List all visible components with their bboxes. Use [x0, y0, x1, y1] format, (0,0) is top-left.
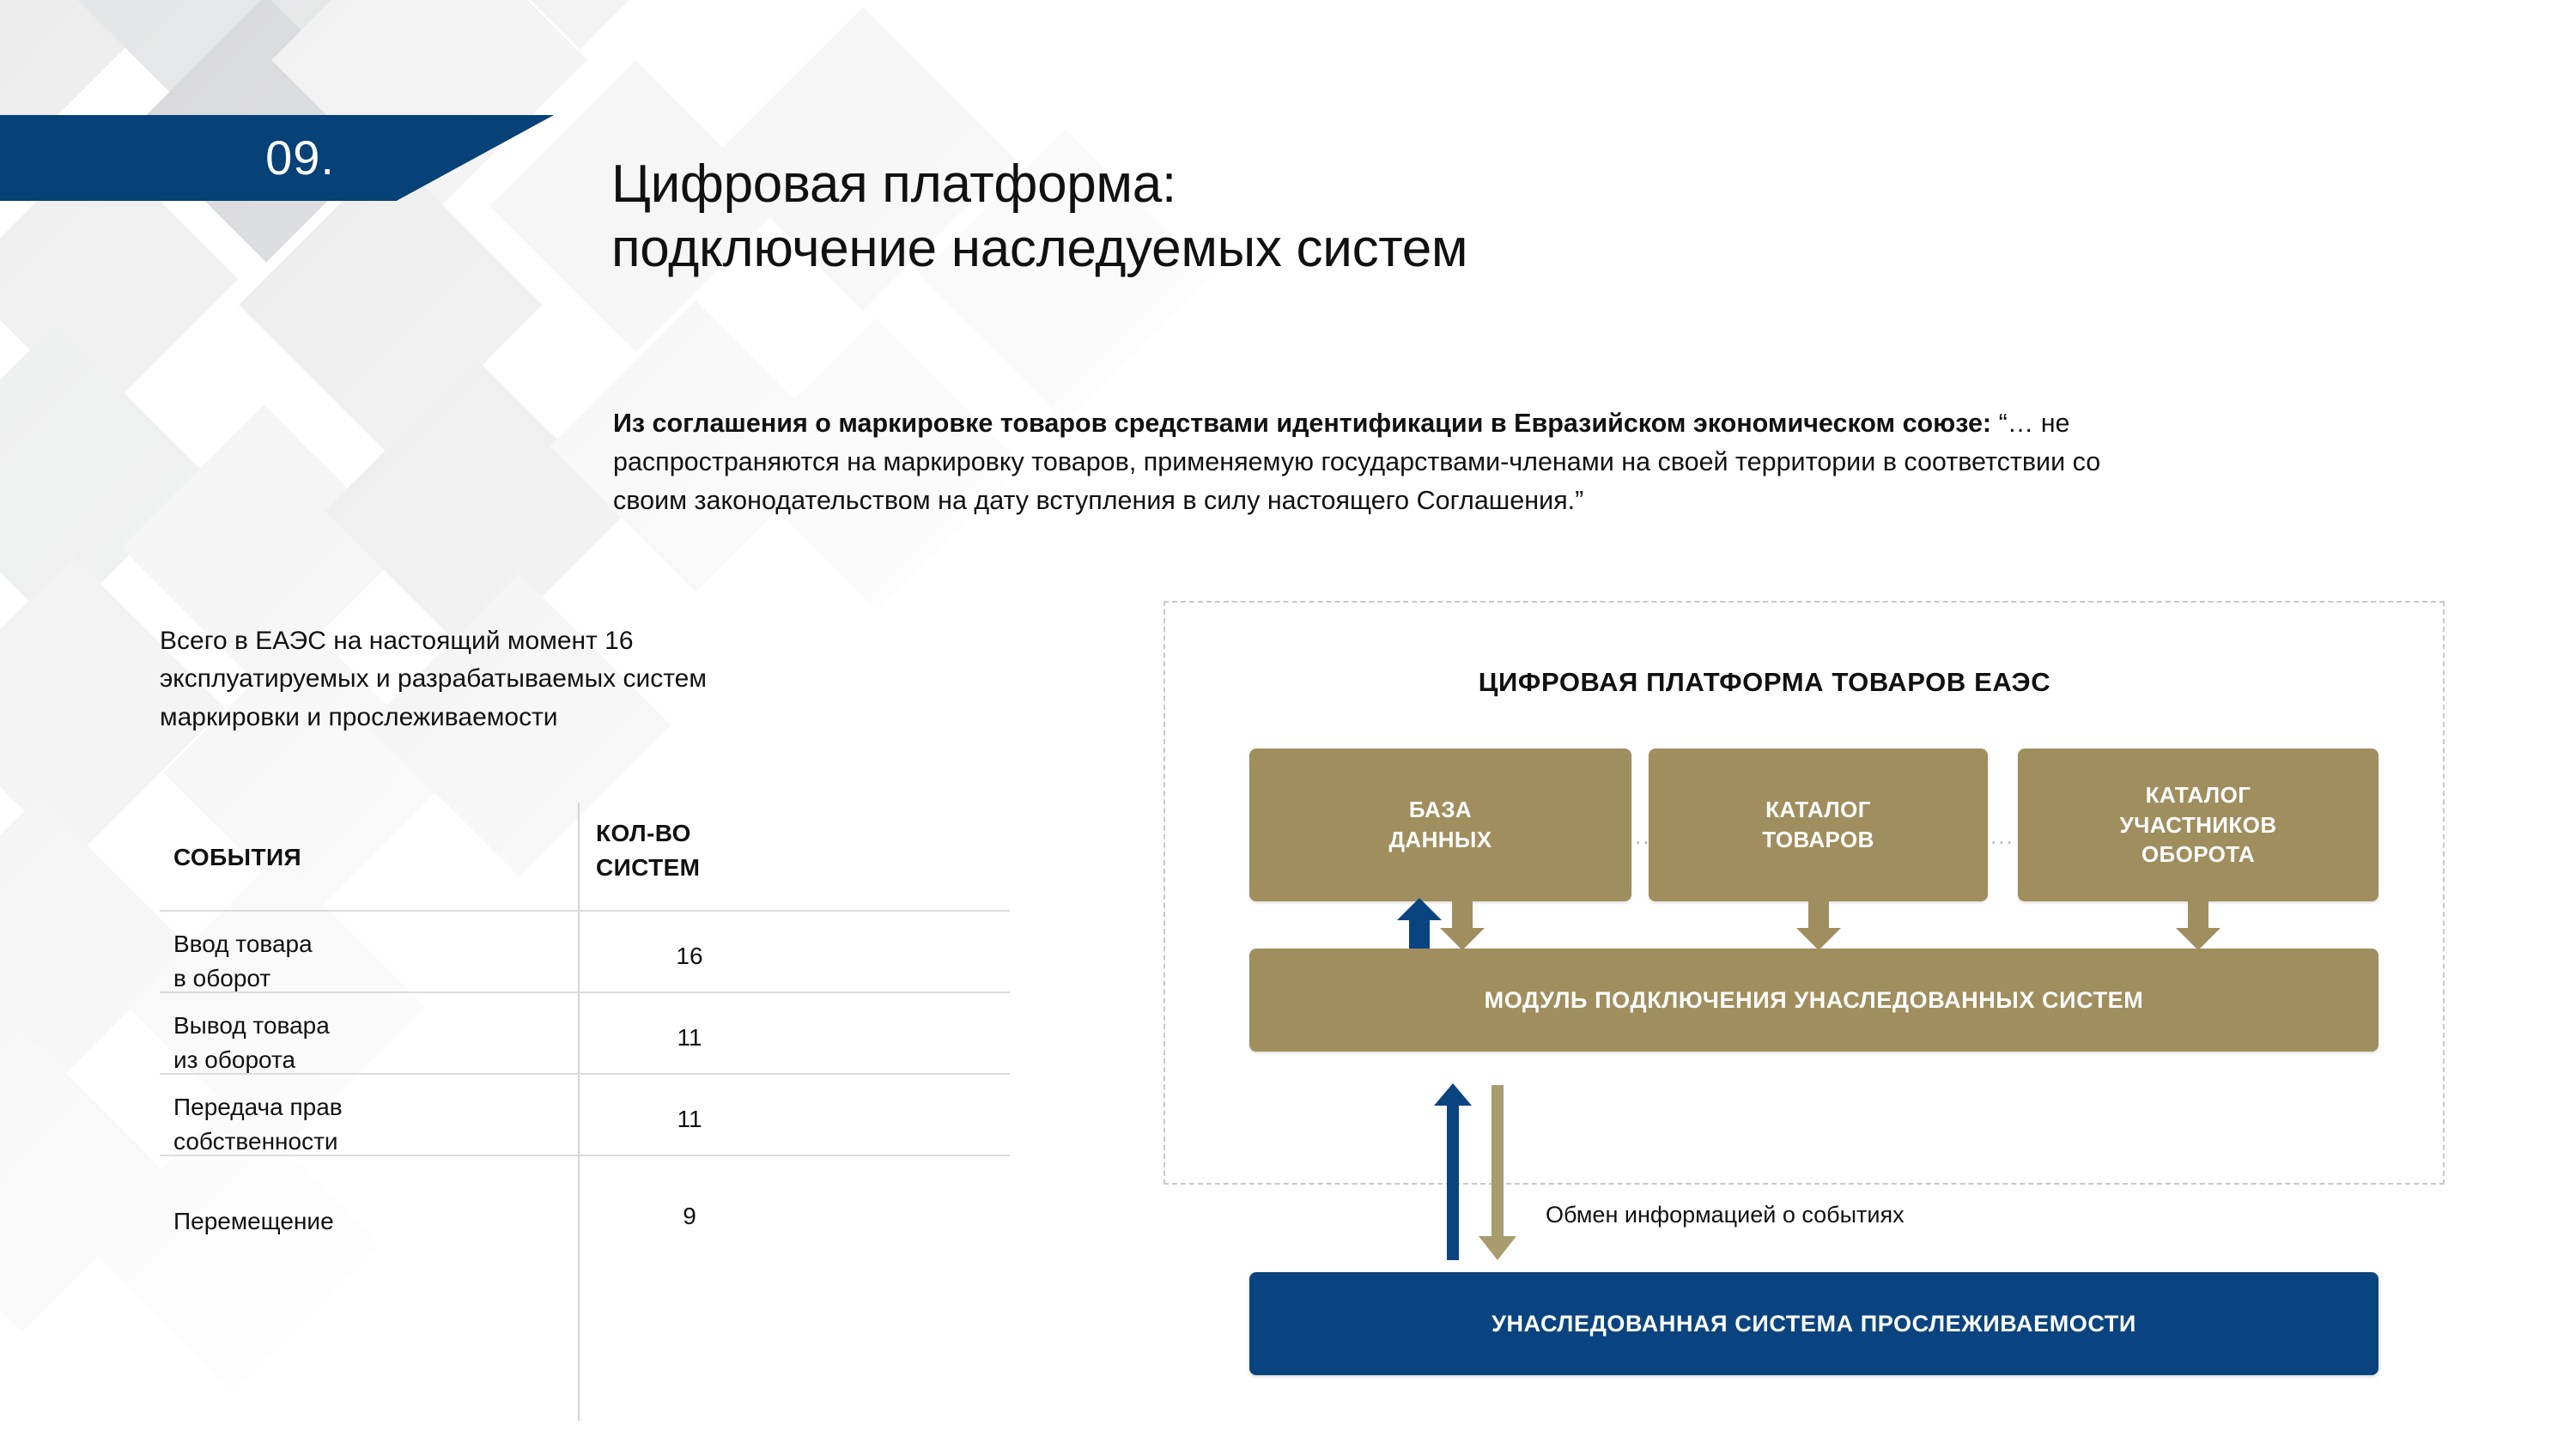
- arrow-down-khaki-long-icon: [1479, 1085, 1516, 1260]
- intro-line-3: маркировки и прослеживаемости: [160, 699, 1044, 737]
- exchange-info-label: Обмен информацией о событиях: [1546, 1202, 1905, 1228]
- intro-line-2: эксплуатируемых и разрабатываемых систем: [160, 660, 1044, 698]
- legacy-connection-module-bar: МОДУЛЬ ПОДКЛЮЧЕНИЯ УНАСЛЕДОВАННЫХ СИСТЕМ: [1249, 949, 2379, 1052]
- page-title: Цифровая платформа: подключение наследуе…: [611, 152, 2243, 282]
- table-cell-event-line2: в оборот: [173, 961, 560, 996]
- slide-number-label: 09.: [0, 115, 335, 201]
- intro-paragraph: Всего в ЕАЭС на настоящий момент 16 эксп…: [160, 622, 1044, 737]
- arrow-up-blue-icon: [1397, 898, 1442, 949]
- table-cell-event: Передача прав собственности: [173, 1090, 560, 1159]
- table-cell-event-line1: Перемещение: [173, 1204, 560, 1239]
- table-cell-event-line2: из оборота: [173, 1043, 560, 1077]
- arrow-down-khaki-icon: [2176, 901, 2221, 950]
- slide-number-banner: 09.: [0, 115, 554, 201]
- title-line-2: подключение наследуемых систем: [611, 216, 2243, 282]
- diagram-arrows-upper: [1163, 601, 2445, 1185]
- table-header-count: КОЛ-ВО СИСТЕМ: [596, 816, 700, 885]
- agreement-quote: Из соглашения о маркировке товаров средс…: [613, 404, 2167, 520]
- legacy-traceability-system-box: УНАСЛЕДОВАННАЯ СИСТЕМА ПРОСЛЕЖИВАЕМОСТИ: [1249, 1272, 2379, 1375]
- table-row: Вывод товара из оборота 11: [160, 991, 1010, 1073]
- table-cell-event: Вывод товара из оборота: [173, 1009, 560, 1077]
- table-header-events: СОБЫТИЯ: [173, 844, 301, 871]
- platform-diagram: ЦИФРОВАЯ ПЛАТФОРМА ТОВАРОВ ЕАЭС БАЗА ДАН…: [1163, 601, 2445, 1185]
- systems-stats-table: СОБЫТИЯ КОЛ-ВО СИСТЕМ Ввод товара в обор…: [160, 803, 1010, 1266]
- arrow-up-blue-long-icon: [1434, 1083, 1472, 1260]
- arrow-down-khaki-icon: [1440, 901, 1485, 950]
- quote-lead: Из соглашения о маркировке товаров средс…: [613, 409, 1991, 438]
- table-cell-event-line1: Ввод товара: [173, 927, 560, 961]
- table-cell-count: 16: [578, 943, 801, 970]
- table-cell-count: 11: [578, 1024, 801, 1052]
- table-row: Перемещение 9: [160, 1155, 1010, 1266]
- table-cell-event-line1: Вывод товара: [173, 1009, 560, 1043]
- intro-line-1: Всего в ЕАЭС на настоящий момент 16: [160, 622, 1044, 660]
- table-cell-event-line1: Передача прав: [173, 1090, 560, 1125]
- table-row: Передача прав собственности 11: [160, 1073, 1010, 1155]
- table-cell-count: 9: [578, 1203, 801, 1230]
- table-header-row: СОБЫТИЯ КОЛ-ВО СИСТЕМ: [160, 803, 1010, 910]
- table-cell-event: Перемещение: [173, 1204, 560, 1239]
- title-line-1: Цифровая платформа:: [611, 152, 2243, 217]
- diagram-arrows-lower: [1408, 1073, 1752, 1279]
- table-header-count-line1: КОЛ-ВО: [596, 816, 700, 851]
- arrow-down-khaki-icon: [1796, 901, 1841, 950]
- table-cell-count: 11: [578, 1106, 801, 1133]
- table-cell-event-line2: собственности: [173, 1125, 560, 1159]
- table-row: Ввод товара в оборот 16: [160, 910, 1010, 991]
- table-header-count-line2: СИСТЕМ: [596, 851, 700, 885]
- table-cell-event: Ввод товара в оборот: [173, 927, 560, 996]
